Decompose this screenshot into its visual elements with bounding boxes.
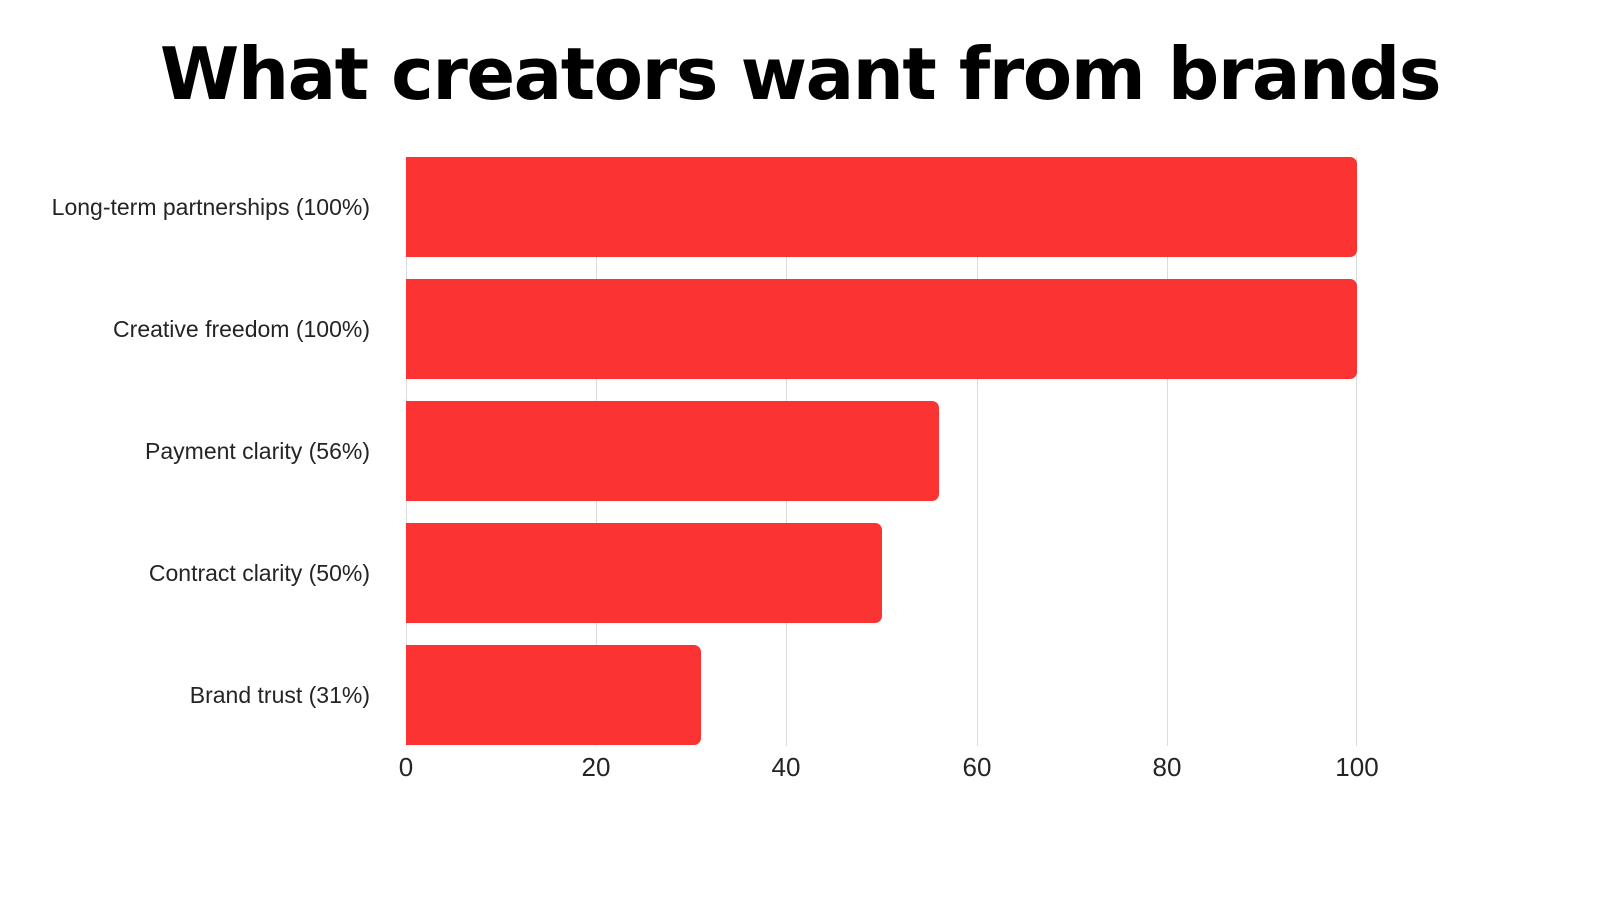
- bar-row-3: [406, 523, 1357, 623]
- y-axis-label-3: Contract clarity (50%): [0, 523, 386, 623]
- bar-payment-clarity[interactable]: [406, 401, 939, 501]
- bar-row-2: [406, 401, 1357, 501]
- plot-area: [406, 157, 1357, 746]
- x-tick-label-20: 20: [582, 752, 611, 783]
- y-axis-label-4: Brand trust (31%): [0, 645, 386, 745]
- y-axis-label-2: Payment clarity (56%): [0, 401, 386, 501]
- bar-chart-figure: What creators want from brands Long-term…: [0, 0, 1600, 900]
- x-axis-tick-labels: 0 20 40 60 80 100: [406, 752, 1357, 792]
- chart-title: What creators want from brands: [0, 38, 1600, 110]
- bar-contract-clarity[interactable]: [406, 523, 882, 623]
- y-axis-label-0: Long-term partnerships (100%): [0, 157, 386, 257]
- x-tick-label-40: 40: [772, 752, 801, 783]
- x-tick-label-100: 100: [1335, 752, 1378, 783]
- bar-long-term-partnerships[interactable]: [406, 157, 1357, 257]
- bar-row-1: [406, 279, 1357, 379]
- bar-row-0: [406, 157, 1357, 257]
- bar-creative-freedom[interactable]: [406, 279, 1357, 379]
- bar-series: [406, 157, 1357, 746]
- bar-row-4: [406, 645, 1357, 745]
- x-tick-label-0: 0: [399, 752, 413, 783]
- bar-brand-trust[interactable]: [406, 645, 701, 745]
- x-tick-label-60: 60: [963, 752, 992, 783]
- y-axis-label-1: Creative freedom (100%): [0, 279, 386, 379]
- x-tick-label-80: 80: [1153, 752, 1182, 783]
- y-axis-category-labels: Long-term partnerships (100%) Creative f…: [0, 157, 386, 746]
